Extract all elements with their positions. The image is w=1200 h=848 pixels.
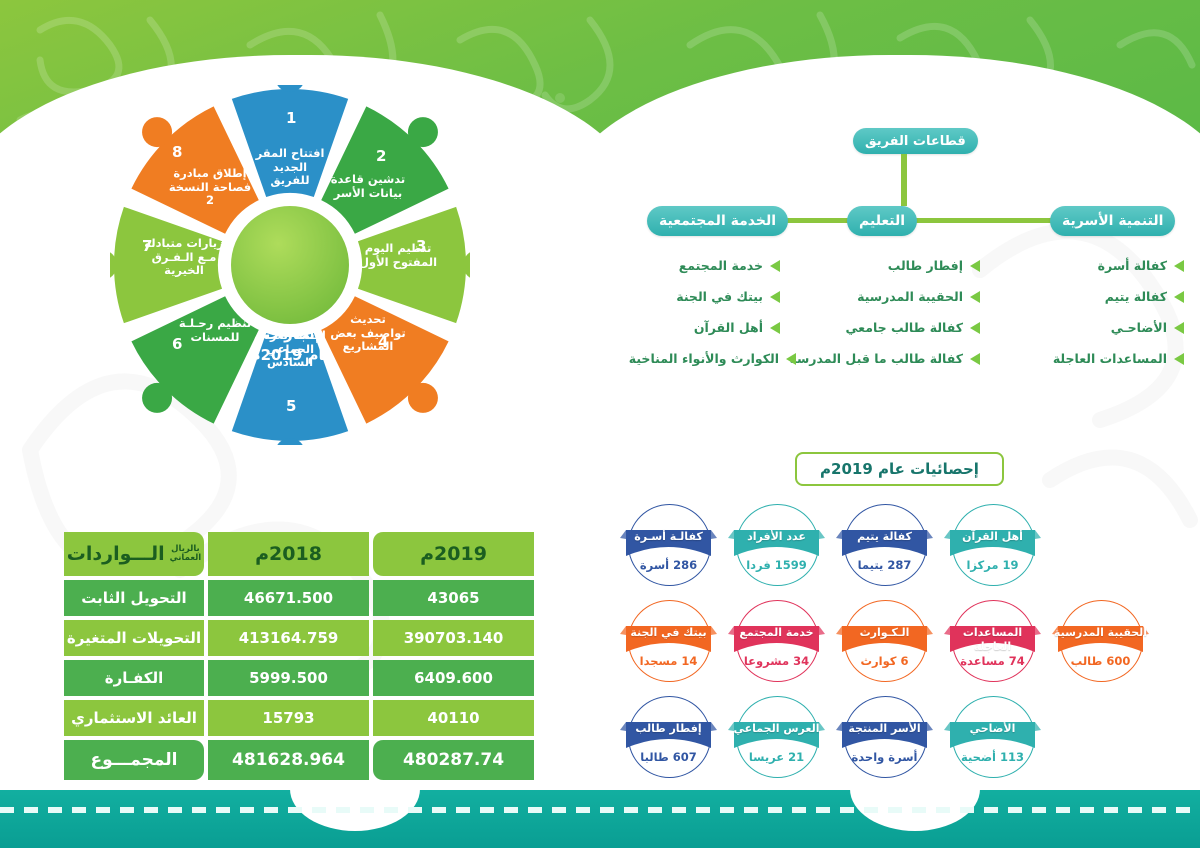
table-header-2018: 2018م — [208, 532, 369, 576]
leaf-label: كفالة أسرة — [1098, 258, 1167, 273]
stat-badge[interactable]: المساعدات العاجلة74 مساعدة — [944, 596, 1041, 684]
footer-dashed-line — [0, 807, 1200, 813]
leaf-arrow-icon — [786, 353, 796, 365]
stat-badge[interactable]: خدمة المجتمع34 مشروعا — [728, 596, 825, 684]
tree-leaf[interactable]: كفالة يتيم — [1105, 289, 1184, 304]
badge-label: الحقيبة المدرسية — [1052, 626, 1149, 640]
badge-value: 21 عريسا — [728, 750, 825, 764]
leaf-label: كفالة طالب ما قبل المدرسة — [789, 351, 963, 366]
leaf-label: إفطار طالب — [888, 258, 963, 273]
leaf-label: كفالة يتيم — [1105, 289, 1167, 304]
table-header-title: الـــواردات — [67, 543, 165, 565]
leaf-label: كفالة طالب جامعي — [846, 320, 963, 335]
badge-value: 34 مشروعا — [728, 654, 825, 668]
table-row: 6409.600 5999.500 الكفـارة — [64, 660, 534, 696]
table-cell-2019: 6409.600 — [373, 660, 534, 696]
wheel-petal-badge-2 — [408, 117, 438, 147]
statistics-badges: كفالـة أسـرة286 أسرةعدد الأفراد1599 فردا… — [620, 500, 1180, 788]
tree-connector-root-vertical — [901, 154, 907, 206]
wheel-petals-svg — [110, 85, 470, 445]
stat-badge[interactable]: الأضاحي113 أضحية — [944, 692, 1041, 780]
badge-label: عدد الأفراد — [728, 530, 825, 544]
leaf-arrow-icon — [1174, 322, 1184, 334]
leaf-arrow-icon — [970, 291, 980, 303]
tree-leaf[interactable]: بيتك في الجنة — [676, 289, 780, 304]
stat-badge[interactable]: بيتك في الجنة14 مسجدا — [620, 596, 717, 684]
tree-node-family-development[interactable]: التنمية الأسرية — [1050, 206, 1175, 236]
stat-badge[interactable]: العرس الجماعي21 عريسا — [728, 692, 825, 780]
table-total-2019: 480287.74 — [373, 740, 534, 780]
stat-badge[interactable]: أهل القرآن19 مركزا — [944, 500, 1041, 588]
petal-number-3: 3 — [416, 237, 426, 255]
leaf-arrow-icon — [970, 260, 980, 272]
table-header-row: 2019م 2018م بالريال العماني الـــواردات — [64, 532, 534, 576]
tree-leaf[interactable]: المساعدات العاجلة — [1053, 351, 1184, 366]
stat-badge[interactable]: كفالـة أسـرة286 أسرة — [620, 500, 717, 588]
badge-label: العرس الجماعي — [728, 722, 825, 736]
stat-badge[interactable]: عدد الأفراد1599 فردا — [728, 500, 825, 588]
tree-leaf[interactable]: خدمة المجتمع — [679, 258, 780, 273]
team-sectors-tree: قطاعات الفريق التنمية الأسرية التعليم ال… — [625, 128, 1185, 388]
revenues-table: 2019م 2018م بالريال العماني الـــواردات … — [64, 532, 534, 784]
table-cell-label: العائد الاستثماري — [64, 700, 204, 736]
badge-value: أسرة واحدة — [836, 750, 933, 764]
leaf-arrow-icon — [770, 291, 780, 303]
tree-leaf[interactable]: أهل القرآن — [694, 320, 780, 335]
table-cell-2018: 413164.759 — [208, 620, 369, 656]
badge-value: 287 يتيما — [836, 558, 933, 572]
leaf-arrow-icon — [770, 260, 780, 272]
table-total-row: 480287.74 481628.964 المجمـــوع — [64, 740, 534, 780]
badge-value: 286 أسرة — [620, 558, 717, 572]
table-cell-2018: 15793 — [208, 700, 369, 736]
stat-badge[interactable]: إفطار طالب607 طالبا — [620, 692, 717, 780]
wheel-center-line1: إنجازات — [227, 324, 357, 345]
wheel-center-label: إنجازات عام 2019م — [227, 324, 357, 366]
stat-badge[interactable]: الأسر المنتجةأسرة واحدة — [836, 692, 933, 780]
leaf-arrow-icon — [1174, 260, 1184, 272]
badge-label: خدمة المجتمع — [728, 626, 825, 640]
badge-value: 1599 فردا — [728, 558, 825, 572]
badge-label: الأسر المنتجة — [836, 722, 933, 736]
page-footer-band — [0, 790, 1200, 848]
leaf-label: بيتك في الجنة — [676, 289, 763, 304]
badge-row-2: بيتك في الجنة14 مسجداخدمة المجتمع34 مشرو… — [620, 596, 1180, 684]
leaf-arrow-icon — [970, 322, 980, 334]
badge-label: بيتك في الجنة — [620, 626, 717, 640]
badge-label: إفطار طالب — [620, 722, 717, 736]
leaf-label: الحقيبة المدرسية — [857, 289, 963, 304]
petal-number-8: 8 — [172, 143, 182, 161]
badge-value: 19 مركزا — [944, 558, 1041, 572]
leaf-label: خدمة المجتمع — [679, 258, 763, 273]
table-header-2019: 2019م — [373, 532, 534, 576]
leaf-arrow-icon — [970, 353, 980, 365]
tree-leaf[interactable]: الكوارث والأنواء المناخية — [629, 351, 796, 366]
leaf-label: المساعدات العاجلة — [1053, 351, 1167, 366]
table-row: 43065 46671.500 التحويل الثابت — [64, 580, 534, 616]
tree-node-community-service[interactable]: الخدمة المجتمعية — [647, 206, 788, 236]
badge-label: الأضاحي — [944, 722, 1041, 736]
table-cell-2019: 40110 — [373, 700, 534, 736]
table-total-label: المجمـــوع — [64, 740, 204, 780]
table-row: 390703.140 413164.759 التحويلات المتغيرة — [64, 620, 534, 656]
wheel-petal-badge-8 — [142, 117, 172, 147]
statistics-title: إحصائيات عام 2019م — [795, 452, 1004, 486]
badge-label: الـكـوارث — [836, 626, 933, 640]
leaf-arrow-icon — [1174, 291, 1184, 303]
table-total-2018: 481628.964 — [208, 740, 369, 780]
badge-value: 113 أضحية — [944, 750, 1041, 764]
petal-number-6: 6 — [172, 335, 182, 353]
petal-number-5: 5 — [286, 397, 296, 415]
badge-label: كفالة يتيم — [836, 530, 933, 544]
table-header-sub2: العماني — [170, 554, 202, 564]
table-cell-label: التحويل الثابت — [64, 580, 204, 616]
leaf-label: الكوارث والأنواء المناخية — [629, 351, 779, 366]
badge-value: 600 طالب — [1052, 654, 1149, 668]
badge-label: المساعدات العاجلة — [944, 626, 1041, 654]
wheel-petal-badge-4 — [408, 383, 438, 413]
leaf-label: أهل القرآن — [694, 320, 763, 335]
badge-value: 74 مساعدة — [944, 654, 1041, 668]
leaf-arrow-icon — [1174, 353, 1184, 365]
leaf-label: الأضاحـي — [1111, 320, 1167, 335]
stat-badge[interactable]: الحقيبة المدرسية600 طالب — [1052, 596, 1149, 684]
stat-badge[interactable]: كفالة يتيم287 يتيما — [836, 500, 933, 588]
wheel-petal-badge-6 — [142, 383, 172, 413]
leaf-arrow-icon — [770, 322, 780, 334]
badge-label: كفالـة أسـرة — [620, 530, 717, 544]
tree-leaf[interactable]: كفالة طالب جامعي — [846, 320, 980, 335]
badge-row-1: كفالـة أسـرة286 أسرةعدد الأفراد1599 فردا… — [620, 500, 1180, 588]
tree-root-node[interactable]: قطاعات الفريق — [853, 128, 978, 154]
table-cell-2018: 46671.500 — [208, 580, 369, 616]
tree-leaf[interactable]: الحقيبة المدرسية — [857, 289, 980, 304]
tree-leaf[interactable]: الأضاحـي — [1111, 320, 1184, 335]
wheel-center-line2: عام 2019م — [227, 345, 357, 366]
badge-value: 14 مسجدا — [620, 654, 717, 668]
table-cell-2019: 390703.140 — [373, 620, 534, 656]
petal-number-1: 1 — [286, 109, 296, 127]
petal-number-2: 2 — [376, 147, 386, 165]
tree-leaf[interactable]: كفالة أسرة — [1098, 258, 1184, 273]
tree-node-education[interactable]: التعليم — [847, 206, 917, 236]
table-header-sublabel: بالريال العماني — [170, 545, 202, 564]
petal-number-4: 4 — [378, 333, 388, 351]
badge-value: 6 كوارث — [836, 654, 933, 668]
badge-label: أهل القرآن — [944, 530, 1041, 544]
table-cell-2019: 43065 — [373, 580, 534, 616]
petal-number-7: 7 — [142, 237, 152, 255]
table-cell-label: التحويلات المتغيرة — [64, 620, 204, 656]
tree-leaf[interactable]: إفطار طالب — [888, 258, 980, 273]
table-header-label: بالريال العماني الـــواردات — [64, 532, 204, 576]
tree-leaf[interactable]: كفالة طالب ما قبل المدرسة — [789, 351, 980, 366]
achievements-wheel: إنجازات عام 2019م افتتاح المقر الجديد لل… — [110, 85, 470, 445]
table-row: 40110 15793 العائد الاستثماري — [64, 700, 534, 736]
table-cell-2018: 5999.500 — [208, 660, 369, 696]
wheel-center-circle — [231, 206, 349, 324]
table-cell-label: الكفـارة — [64, 660, 204, 696]
badge-row-3: إفطار طالب607 طالباالعرس الجماعي21 عريسا… — [620, 692, 1180, 780]
stat-badge[interactable]: الـكـوارث6 كوارث — [836, 596, 933, 684]
badge-value: 607 طالبا — [620, 750, 717, 764]
